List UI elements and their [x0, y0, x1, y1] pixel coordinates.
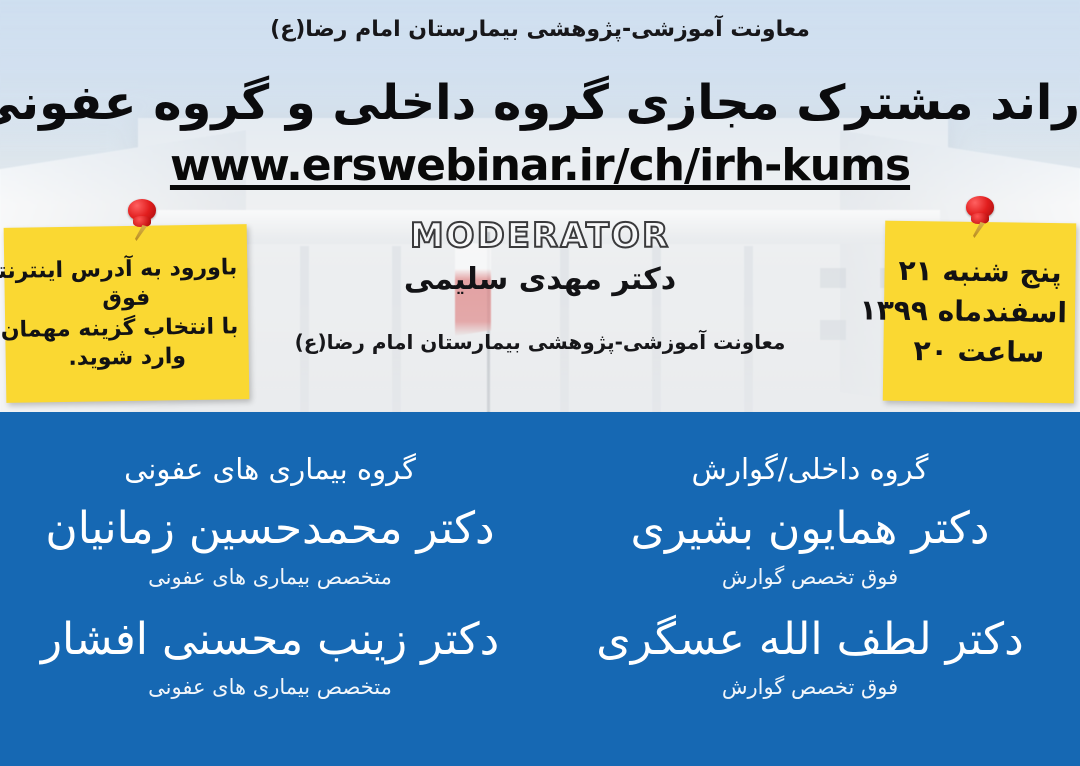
datetime-line-3: ساعت ۲۰	[891, 331, 1067, 373]
speaker-name: دکتر زینب محسنی افشار	[41, 615, 499, 666]
speaker-entry: دکتر لطف الله عسگری فوق تخصص گوارش	[596, 589, 1023, 700]
webinar-url-link[interactable]: www.erswebinar.ir/ch/irh-kums	[170, 140, 910, 191]
instructions-line-1: باورود به آدرس اینترنتی	[14, 253, 237, 286]
instructions-sticky-note: باورود به آدرس اینترنتی فوق با انتخاب گز…	[4, 224, 250, 403]
speaker-name: دکتر محمدحسین زمانیان	[45, 504, 494, 555]
speaker-role: فوق تخصص گوارش	[596, 675, 1023, 699]
speaker-entry: دکتر محمدحسین زمانیان متخصص بیماری های ع…	[45, 486, 494, 589]
instructions-line-2: فوق	[15, 282, 238, 315]
speaker-entry: دکتر همایون بشیری فوق تخصص گوارش	[631, 486, 990, 589]
speaker-name: دکتر همایون بشیری	[631, 504, 990, 555]
speaker-name: دکتر لطف الله عسگری	[596, 615, 1023, 666]
instructions-line-3: با انتخاب گزینه مهمان	[15, 312, 238, 345]
speaker-entry: دکتر زینب محسنی افشار متخصص بیماری های ع…	[41, 589, 499, 700]
speaker-role: فوق تخصص گوارش	[631, 565, 990, 589]
page-title: راند مشترک مجازی گروه داخلی و گروه عفونی	[0, 78, 1080, 128]
poster-header-section: معاونت آموزشی-پژوهشی بیمارستان امام رضا(…	[0, 0, 1080, 412]
speaker-role: متخصص بیماری های عفونی	[41, 675, 499, 699]
instructions-line-4: وارد شوید.	[15, 341, 238, 374]
speakers-section: گروه داخلی/گوارش دکتر همایون بشیری فوق ت…	[0, 412, 1080, 766]
webinar-url-wrapper: www.erswebinar.ir/ch/irh-kums	[0, 140, 1080, 191]
speaker-role: متخصص بیماری های عفونی	[45, 565, 494, 589]
datetime-sticky-note: پنج شنبه ۲۱ اسفندماه ۱۳۹۹ ساعت ۲۰	[883, 221, 1076, 404]
group-title-internal-medicine: گروه داخلی/گوارش	[692, 452, 929, 486]
datetime-line-1: پنج شنبه ۲۱	[892, 251, 1068, 293]
speakers-column-infectious-diseases: گروه بیماری های عفونی دکتر محمدحسین زمان…	[0, 412, 540, 766]
datetime-line-2: اسفندماه ۱۳۹۹	[892, 291, 1068, 333]
group-title-infectious-diseases: گروه بیماری های عفونی	[124, 452, 416, 486]
webinar-poster: معاونت آموزشی-پژوهشی بیمارستان امام رضا(…	[0, 0, 1080, 766]
speakers-column-internal-medicine: گروه داخلی/گوارش دکتر همایون بشیری فوق ت…	[540, 412, 1080, 766]
organization-line: معاونت آموزشی-پژوهشی بیمارستان امام رضا(…	[0, 17, 1080, 42]
